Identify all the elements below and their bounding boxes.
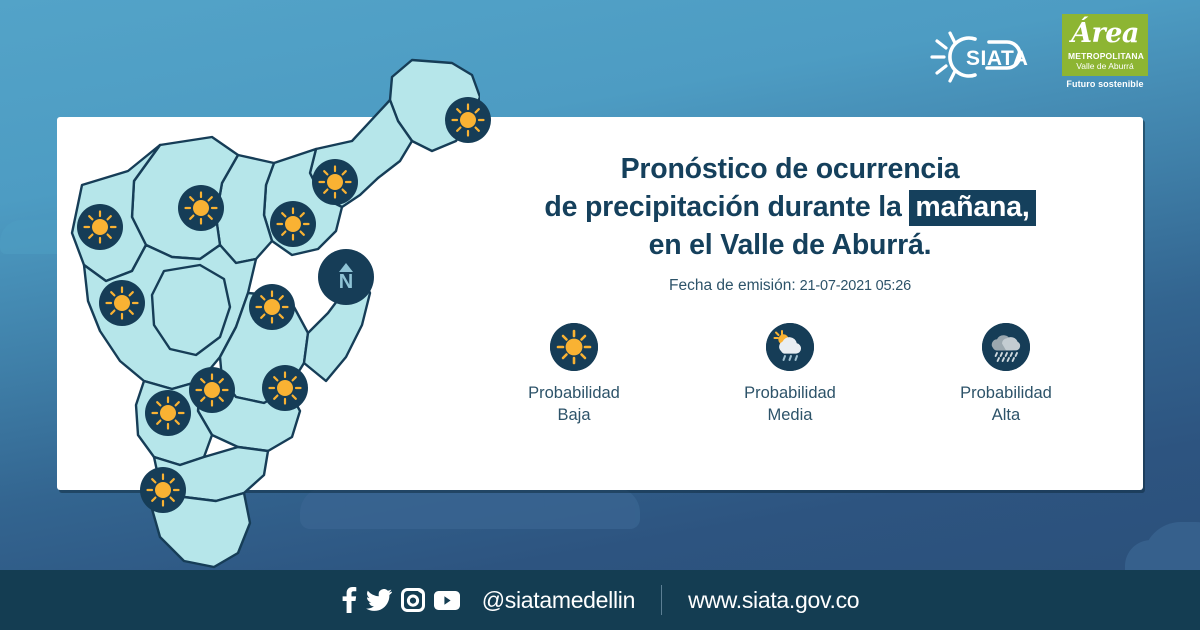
twitter-icon[interactable] xyxy=(366,589,392,611)
legend-baja-line2: Baja xyxy=(528,404,620,426)
legend-item-baja: Probabilidad Baja xyxy=(499,323,649,426)
cloud-heavy-rain-icon xyxy=(982,323,1030,371)
legend-alta-line2: Alta xyxy=(960,404,1052,426)
legend-media-line2: Media xyxy=(744,404,836,426)
area-metropolitana-logo: Área METROPOLITANA Valle de Aburrá Futur… xyxy=(1062,14,1148,89)
legend-baja-line1: Probabilidad xyxy=(528,382,620,404)
area-logo-green-box: Área METROPOLITANA Valle de Aburrá xyxy=(1062,14,1148,76)
issue-date-label: Fecha de emisión: xyxy=(669,277,796,294)
siata-logo-icon: SIATA xyxy=(928,26,1048,88)
area-logo-script: Área xyxy=(1068,20,1142,48)
issue-date-value: 21-07-2021 05:26 xyxy=(800,278,911,294)
sun-icon xyxy=(550,323,598,371)
area-logo-line1: METROPOLITANA xyxy=(1068,51,1142,61)
footer-divider xyxy=(661,585,662,615)
page-title: Pronóstico de ocurrencia de precipitació… xyxy=(460,150,1120,264)
website-url[interactable]: www.siata.gov.co xyxy=(688,587,859,614)
area-logo-line2: Valle de Aburrá xyxy=(1068,61,1142,71)
sun-cloud-rain-glyph xyxy=(766,323,814,371)
legend-item-media: Probabilidad Media xyxy=(715,323,865,426)
logo-bar: SIATA Área METROPOLITANA Valle de Aburrá… xyxy=(928,14,1148,89)
legend-alta-line1: Probabilidad xyxy=(960,382,1052,404)
forecast-content: Pronóstico de ocurrencia de precipitació… xyxy=(460,150,1120,426)
title-line-2-text: de precipitación durante la xyxy=(544,191,901,223)
probability-legend: Probabilidad Baja xyxy=(460,323,1120,426)
svg-text:SIATA: SIATA xyxy=(966,47,1028,70)
footer-bar: @siatamedellin www.siata.gov.co xyxy=(0,570,1200,630)
title-line-2: de precipitación durante la mañana, xyxy=(460,188,1120,226)
area-logo-tagline: Futuro sostenible xyxy=(1062,79,1148,89)
sun-glyph xyxy=(550,323,598,371)
title-line-3: en el Valle de Aburrá. xyxy=(460,226,1120,264)
facebook-icon[interactable] xyxy=(341,587,357,613)
legend-label-alta: Probabilidad Alta xyxy=(960,382,1052,426)
cloud-heavy-rain-glyph xyxy=(982,323,1030,371)
title-line-1: Pronóstico de ocurrencia xyxy=(460,150,1120,188)
background-cloud-left xyxy=(300,487,640,529)
legend-media-line1: Probabilidad xyxy=(744,382,836,404)
instagram-icon[interactable] xyxy=(401,588,425,612)
title-highlight-manana: mañana, xyxy=(909,190,1035,226)
sun-cloud-rain-icon xyxy=(766,323,814,371)
issue-date-row: Fecha de emisión:21-07-2021 05:26 xyxy=(460,277,1120,295)
social-icons xyxy=(341,587,460,613)
legend-label-baja: Probabilidad Baja xyxy=(528,382,620,426)
youtube-icon[interactable] xyxy=(434,591,460,610)
social-handle[interactable]: @siatamedellin xyxy=(482,587,635,614)
legend-label-media: Probabilidad Media xyxy=(744,382,836,426)
siata-logo: SIATA xyxy=(928,26,1048,88)
legend-item-alta: Probabilidad Alta xyxy=(931,323,1081,426)
